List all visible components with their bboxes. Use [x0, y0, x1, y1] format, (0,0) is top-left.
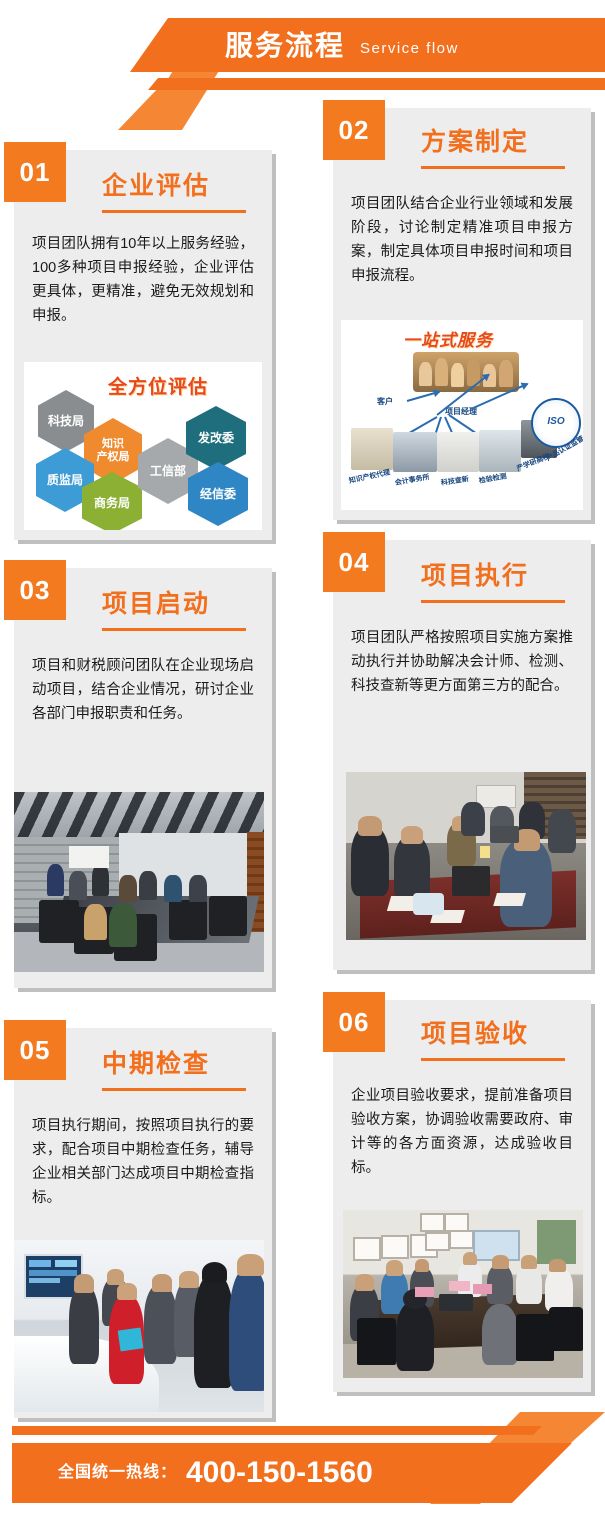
footer-thin-bar	[12, 1426, 542, 1435]
step-number-badge-05: 05	[4, 1020, 66, 1080]
step-title-rule-05	[102, 1088, 246, 1091]
photo-conference-room-kickoff	[14, 792, 264, 972]
page-header: 服务流程 Service flow	[0, 0, 605, 100]
step-number-badge-03: 03	[4, 560, 66, 620]
step-body-01: 项目团队拥有10年以上服务经验，100多种项目申报经验，企业评估更具体，更精准，…	[32, 232, 254, 328]
step-body-04: 项目团队严格按照项目实施方案推动执行并协助解决会计师、检测、科技查新等更方面第三…	[351, 626, 573, 698]
step-title-05: 中期检查	[102, 1048, 210, 1080]
step-body-06: 企业项目验收要求，提前准备项目验收方案，协调验收需要政府、审计等的各方面资源，达…	[351, 1084, 573, 1180]
oss-node-photo-3	[437, 432, 479, 472]
oss-node-label-2: 会计事务所	[394, 472, 430, 488]
photo-acceptance-meeting	[343, 1210, 583, 1378]
hex-diagram-title: 全方位评估	[108, 372, 208, 399]
oss-hub-photo	[413, 352, 519, 392]
step-title-04: 项目执行	[421, 560, 529, 592]
step-title-rule-02	[421, 166, 565, 169]
step-card-05[interactable]: 05 中期检查 项目执行期间，按照项目执行的要求，配合项目中期检查任务，辅导企业…	[14, 1028, 272, 1418]
step-body-05: 项目执行期间，按照项目执行的要求，配合项目中期检查任务，辅导企业相关部门达成项目…	[32, 1114, 254, 1210]
hotline-phone-number[interactable]: 400-150-1560	[186, 1453, 373, 1493]
step-card-06[interactable]: 06 项目验收 企业项目验收要求，提前准备项目验收方案，协调验收需要政府、审计等…	[333, 1000, 591, 1392]
step-title-01: 企业评估	[102, 170, 210, 202]
step-body-03: 项目和财税顾问团队在企业现场启动项目，结合企业情况，研讨企业各部门申报职责和任务…	[32, 654, 254, 726]
step-card-03[interactable]: 03 项目启动 项目和财税顾问团队在企业现场启动项目，结合企业情况，研讨企业各部…	[14, 568, 272, 988]
step-title-02: 方案制定	[421, 126, 529, 158]
one-stop-service-diagram: 一站式服务 客户 项目经理 IS	[341, 320, 583, 510]
oss-node-photo-1	[351, 428, 393, 470]
step-number-badge-04: 04	[323, 532, 385, 592]
page-title: 服务流程	[225, 27, 345, 65]
step-title-rule-04	[421, 600, 565, 603]
infographic-page: 服务流程 Service flow 01 企业评估 项目团队拥有10年以上服务经…	[0, 0, 605, 1538]
header-banner-underbar	[148, 78, 605, 90]
page-subtitle: Service flow	[360, 36, 459, 62]
step-card-04[interactable]: 04 项目执行 项目团队严格按照项目实施方案推动执行并协助解决会计师、检测、科技…	[333, 540, 591, 970]
step-title-03: 项目启动	[102, 588, 210, 620]
oss-title: 一站式服务	[403, 326, 493, 351]
step-number-badge-06: 06	[323, 992, 385, 1052]
oss-seal-text: ISO	[533, 416, 579, 427]
oss-label-customer: 客户	[377, 396, 393, 407]
step-title-rule-03	[102, 628, 246, 631]
step-number-badge-02: 02	[323, 100, 385, 160]
page-footer: 全国统一热线： 400-150-1560	[0, 1398, 605, 1538]
step-number-badge-01: 01	[4, 142, 66, 202]
hotline-label: 全国统一热线：	[58, 1460, 177, 1486]
oss-node-label-4: 检验检测	[478, 471, 507, 486]
hex-assessment-diagram: 全方位评估 科技局 知识产权局 质监局 商务局 工信部 发改委 经信委	[24, 362, 262, 530]
oss-node-label-3: 科技查新	[440, 474, 469, 488]
step-card-01[interactable]: 01 企业评估 项目团队拥有10年以上服务经验，100多种项目申报经验，企业评估…	[14, 150, 272, 540]
oss-node-label-1: 知识产权代理	[348, 467, 391, 486]
photo-onsite-inspection-tour	[14, 1240, 264, 1412]
step-title-rule-06	[421, 1058, 565, 1061]
photo-team-working-meeting	[346, 772, 586, 940]
step-title-rule-01	[102, 210, 246, 213]
oss-node-photo-2	[393, 432, 437, 472]
oss-arrow-1	[407, 391, 440, 402]
step-body-02: 项目团队结合企业行业领域和发展阶段，讨论制定精准项目申报方案，制定具体项目申报时…	[351, 192, 573, 288]
step-title-06: 项目验收	[421, 1018, 529, 1050]
step-card-02[interactable]: 02 方案制定 项目团队结合企业行业领域和发展阶段，讨论制定精准项目申报方案，制…	[333, 108, 591, 520]
